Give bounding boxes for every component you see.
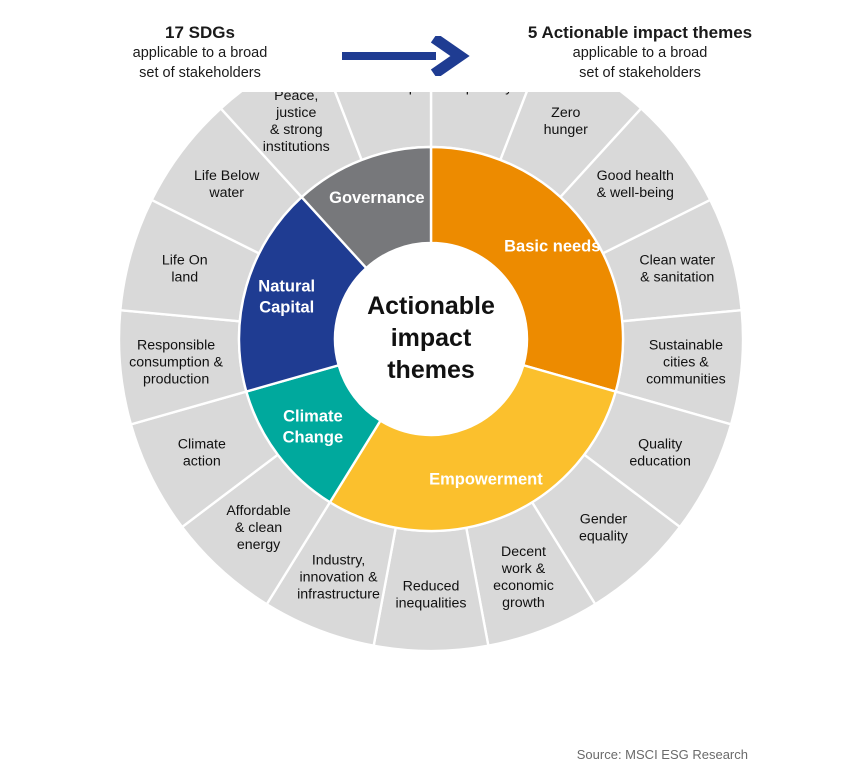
sdg-label-good-health-well-being: Good health& well-being xyxy=(597,168,674,201)
arrow-right-icon xyxy=(325,22,495,76)
sdg-theme-donut-chart: No povertyZerohungerGood health& well-be… xyxy=(0,92,860,752)
sdg-label-gender-equality: Genderequality xyxy=(579,511,629,544)
sdg-label-no-poverty: No poverty xyxy=(444,92,514,95)
header: 17 SDGs applicable to a broad set of sta… xyxy=(0,22,860,83)
header-left-block: 17 SDGs applicable to a broad set of sta… xyxy=(75,22,325,83)
theme-label-basic-needs: Basic needs xyxy=(504,238,600,256)
theme-label-empowerment: Empowerment xyxy=(429,471,543,489)
sdg-label-decent-work-economic-growth: Decentwork &economicgrowth xyxy=(493,544,554,611)
sdg-subtitle-line2: set of stakeholders xyxy=(75,64,325,83)
themes-count-title: 5 Actionable impact themes xyxy=(495,22,785,43)
header-right-block: 5 Actionable impact themes applicable to… xyxy=(495,22,785,83)
sdg-count-title: 17 SDGs xyxy=(75,22,325,43)
sdg-label-climate-action: Climateaction xyxy=(178,436,226,469)
center-hub: Actionableimpactthemes xyxy=(335,243,527,435)
sdg-subtitle-line1: applicable to a broad xyxy=(75,44,325,63)
themes-subtitle-line1: applicable to a broad xyxy=(495,44,785,63)
infographic-root: 17 SDGs applicable to a broad set of sta… xyxy=(0,0,860,780)
theme-label-governance: Governance xyxy=(329,189,424,207)
sdg-label-partnerships: Partnerships xyxy=(344,92,424,95)
themes-subtitle-line2: set of stakeholders xyxy=(495,64,785,83)
sdg-label-quality-education: Qualityeducation xyxy=(629,436,691,469)
sdg-label-reduced-inequalities: Reducedinequalities xyxy=(395,578,466,611)
sdg-label-clean-water-sanitation: Clean water& sanitation xyxy=(639,252,715,285)
source-attribution: Source: MSCI ESG Research xyxy=(577,747,748,762)
